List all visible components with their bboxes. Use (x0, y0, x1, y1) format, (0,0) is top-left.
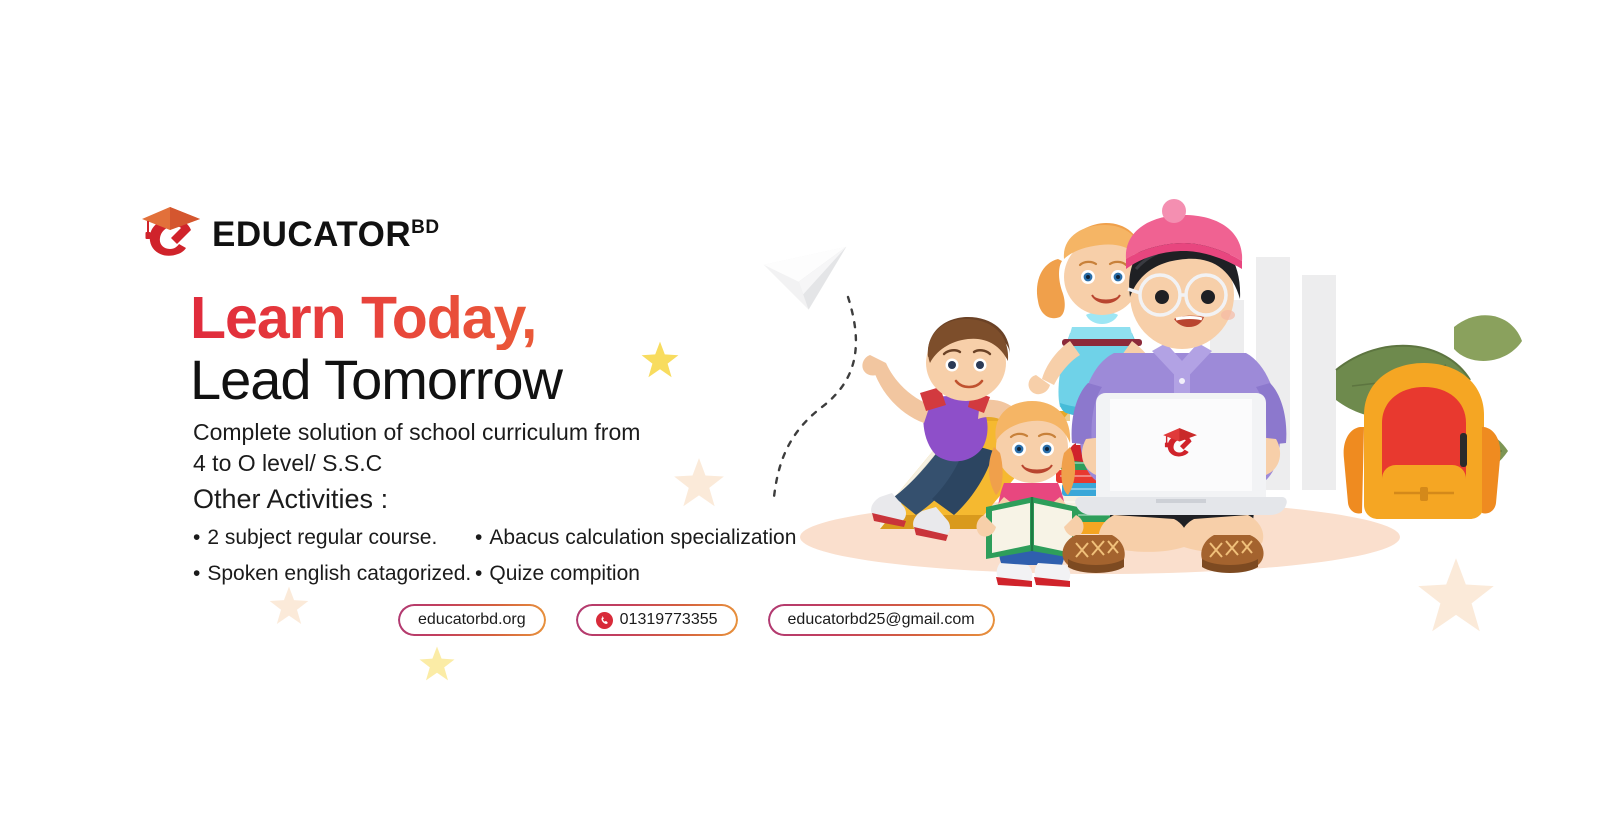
list-item: •Abacus calculation specialization (475, 524, 796, 552)
stack-of-books-left (1062, 461, 1172, 473)
activities-list: •2 subject regular course. •Abacus calcu… (193, 524, 853, 597)
contact-pills: educatorbd.org 01319773355 educatorbd25@… (398, 604, 995, 636)
graduation-cap-e-logo-icon (140, 205, 202, 263)
phone-label: 01319773355 (620, 611, 718, 629)
activities-row: •2 subject regular course. •Abacus calcu… (193, 524, 853, 552)
list-item-label: Abacus calculation specialization (489, 526, 796, 549)
students-and-teacher-illustration (770, 215, 1530, 595)
bullet-icon: • (475, 524, 482, 552)
activities-row: •Spoken english catagorized. •Quize comp… (193, 560, 853, 588)
headline: Learn Today, Lead Tomorrow (190, 288, 830, 410)
email-label: educatorbd25@gmail.com (788, 611, 975, 629)
bullet-icon: • (475, 560, 482, 588)
brand-name: EDUCATOR (212, 217, 411, 252)
promo-banner: EDUCATOR BD Learn Today, Lead Tomorrow C… (0, 0, 1600, 839)
subtitle-line-2: 4 to O level/ S.S.C (193, 448, 753, 479)
star-yellow-lower-left-icon (418, 645, 456, 683)
contact-pill-email[interactable]: educatorbd25@gmail.com (768, 604, 995, 636)
headline-line-2: Lead Tomorrow (190, 350, 830, 410)
laptop-with-brand-logo (1075, 393, 1287, 515)
list-item-label: Quize compition (489, 562, 640, 585)
subtitle: Complete solution of school curriculum f… (193, 417, 753, 478)
list-item: •Spoken english catagorized. (193, 560, 475, 588)
brand-logo[interactable]: EDUCATOR BD (140, 205, 440, 263)
phone-icon (596, 612, 613, 629)
activities-title: Other Activities : (193, 484, 388, 515)
list-item-label: Spoken english catagorized. (207, 562, 471, 585)
bullet-icon: • (193, 524, 200, 552)
bullet-icon: • (193, 560, 200, 588)
subtitle-line-1: Complete solution of school curriculum f… (193, 417, 753, 448)
contact-pill-phone[interactable]: 01319773355 (576, 604, 738, 636)
brand-suffix: BD (411, 218, 439, 237)
list-item-label: 2 subject regular course. (207, 526, 437, 549)
contact-pill-website[interactable]: educatorbd.org (398, 604, 546, 636)
list-item: •Quize compition (475, 560, 640, 588)
list-item: •2 subject regular course. (193, 524, 475, 552)
website-label: educatorbd.org (418, 611, 526, 629)
brand-wordmark: EDUCATOR BD (212, 217, 440, 252)
headline-line-1: Learn Today, (190, 288, 830, 350)
